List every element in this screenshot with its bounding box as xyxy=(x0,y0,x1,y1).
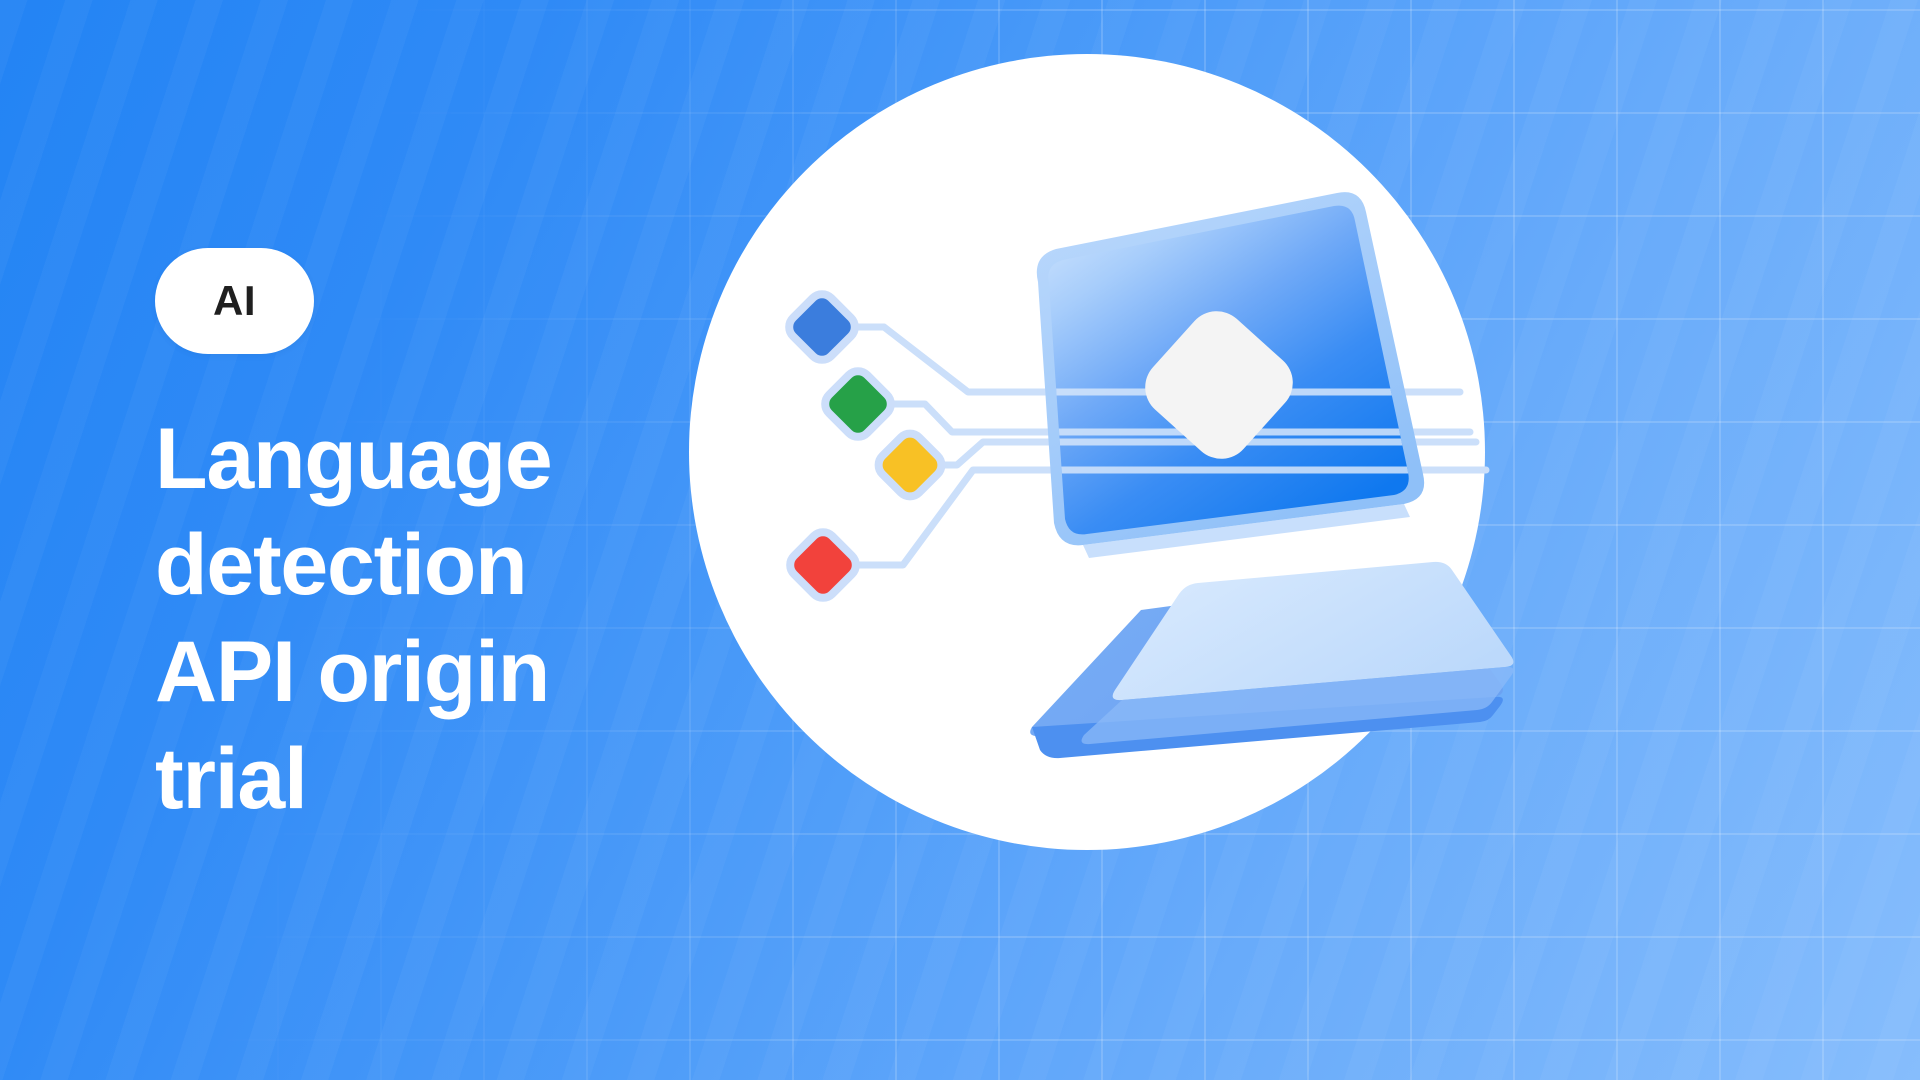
ai-badge: AI xyxy=(155,248,314,354)
page-title: Language detection API origin trial xyxy=(155,406,635,833)
hero-content: AI Language detection API origin trial xyxy=(155,0,775,1080)
hero-banner: AI Language detection API origin trial xyxy=(0,0,1920,1080)
ai-badge-label: AI xyxy=(213,280,256,322)
